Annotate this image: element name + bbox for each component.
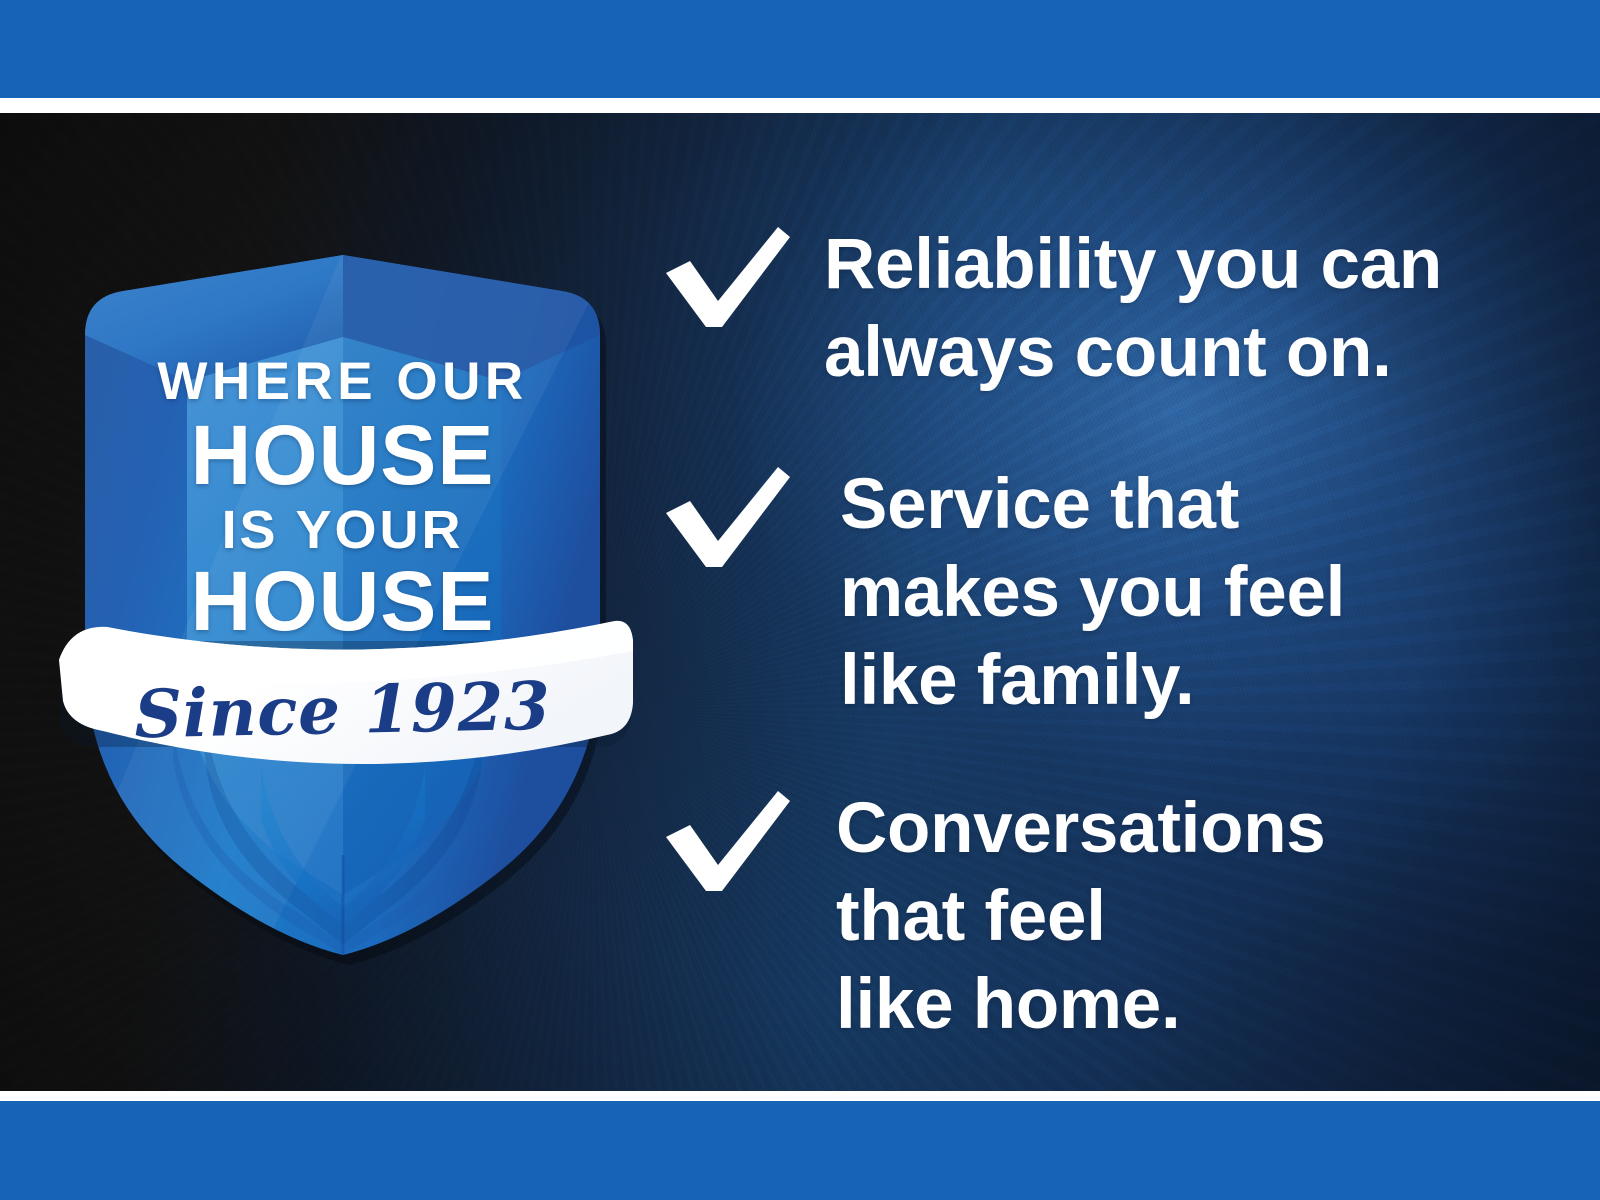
checklist-item-service: Service that makes you feel like family. bbox=[660, 461, 1345, 725]
checklist-text-service: Service that makes you feel like family. bbox=[840, 461, 1345, 725]
checklist-item-conversations: Conversations that feel like home. bbox=[660, 785, 1326, 1049]
top-brand-bar bbox=[0, 0, 1600, 98]
shield-graphic bbox=[55, 155, 630, 955]
checklist-text-reliability: Reliability you can always count on. bbox=[824, 221, 1442, 397]
top-divider-line bbox=[0, 98, 1600, 113]
bottom-brand-bar bbox=[0, 1101, 1600, 1200]
benefits-checklist: Reliability you can always count on. Ser… bbox=[660, 113, 1540, 1091]
brand-shield-badge: WHERE OUR HOUSE IS YOUR HOUSE Since 1923 bbox=[55, 155, 630, 955]
promo-graphic: WHERE OUR HOUSE IS YOUR HOUSE Since 1923… bbox=[0, 0, 1600, 1200]
checklist-item-reliability: Reliability you can always count on. bbox=[660, 221, 1442, 397]
checkmark-icon bbox=[660, 785, 810, 893]
checklist-text-conversations: Conversations that feel like home. bbox=[836, 785, 1326, 1049]
checkmark-icon bbox=[660, 461, 810, 569]
checkmark-icon bbox=[660, 221, 810, 329]
bottom-divider-line bbox=[0, 1091, 1600, 1101]
